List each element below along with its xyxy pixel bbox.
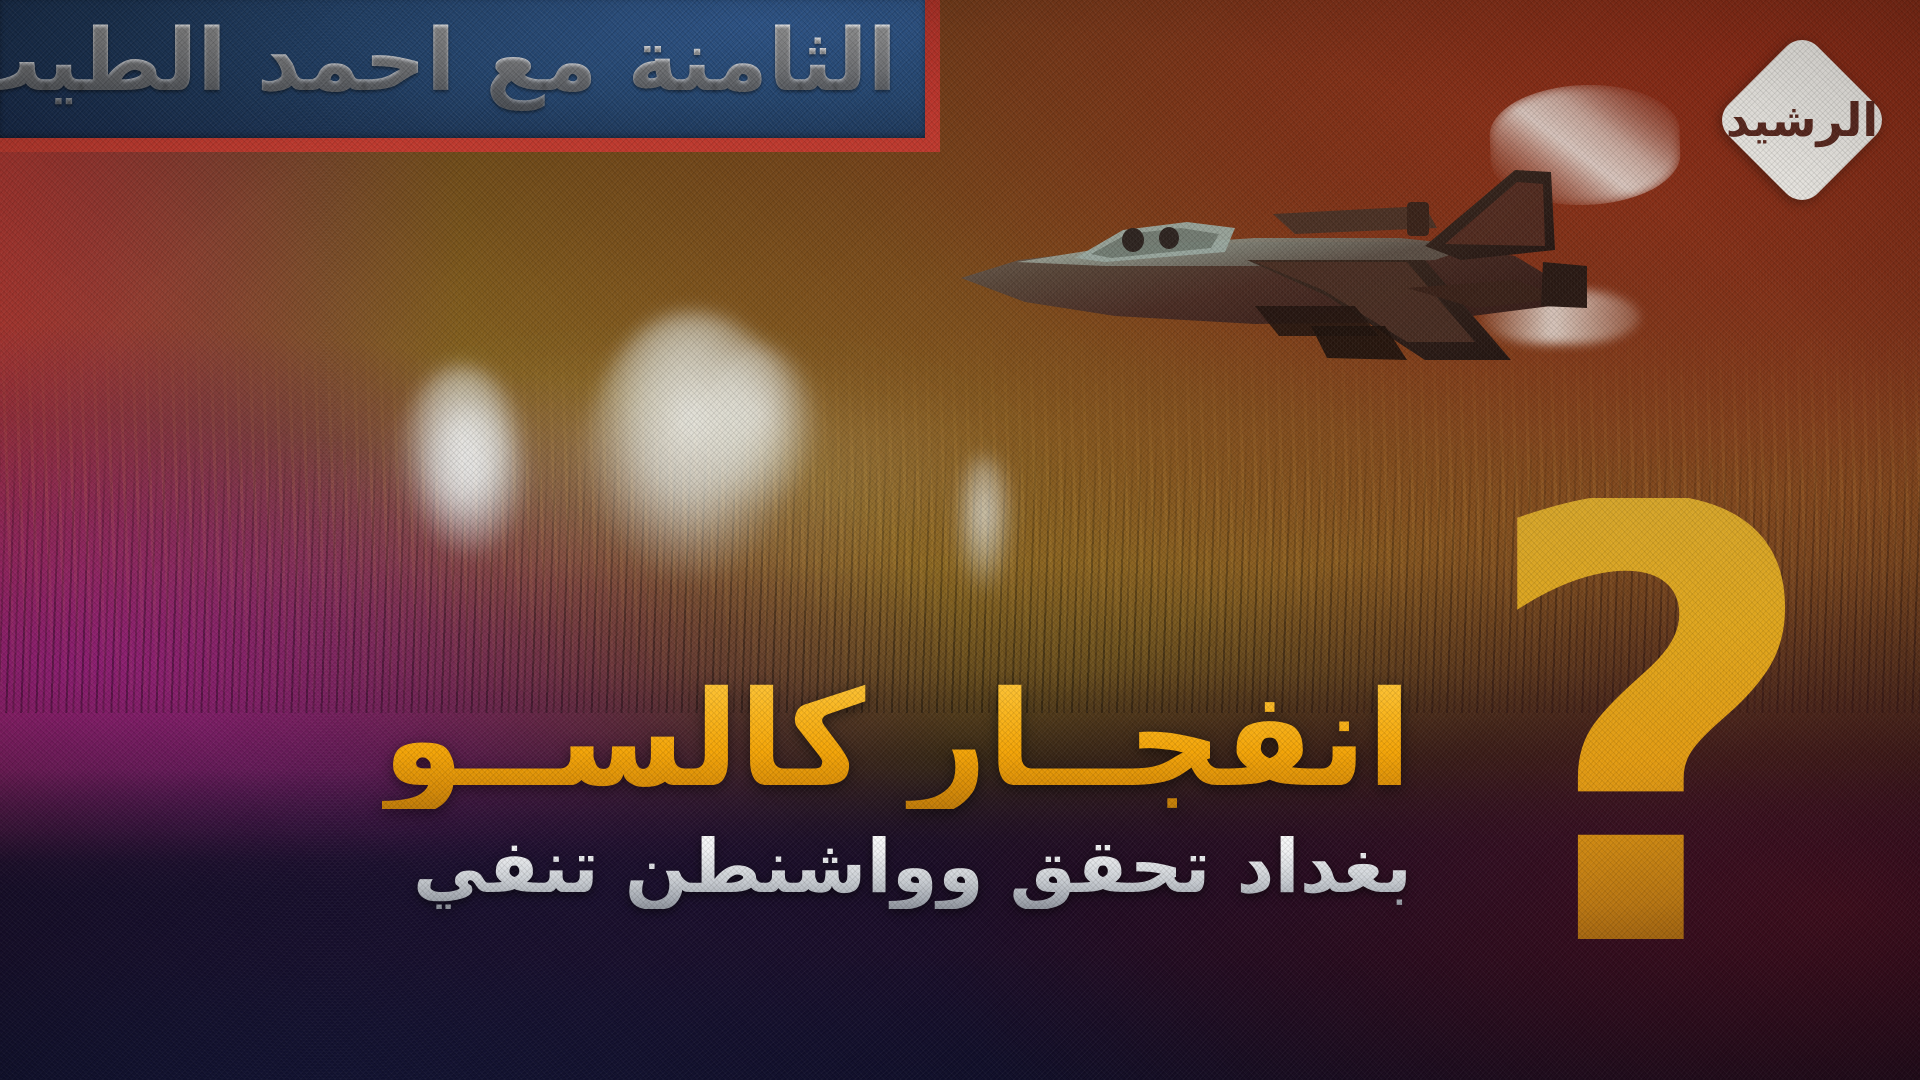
program-title: الثامنة مع احمد الطيب — [0, 6, 897, 116]
headline-block: انفجــار كالســو بغداد تحقق وواشنطن تنفي — [382, 672, 1412, 909]
banner-blue-plate: الثامنة مع احمد الطيب — [0, 0, 925, 138]
logo-wordmark: الرشيد — [1739, 57, 1865, 183]
program-banner: الثامنة مع احمد الطيب — [0, 0, 940, 152]
headline-sub: بغداد تحقق وواشنطن تنفي — [382, 827, 1412, 908]
channel-logo[interactable]: الرشيد — [1739, 57, 1865, 183]
news-graphic-canvas: ? الثامنة مع احمد الطيب الرشيد انفجــار … — [0, 0, 1920, 1080]
question-mark-graphic: ? — [1476, 498, 1812, 966]
fighter-jet-icon — [955, 110, 1595, 400]
headline-main: انفجــار كالســو — [382, 672, 1412, 809]
